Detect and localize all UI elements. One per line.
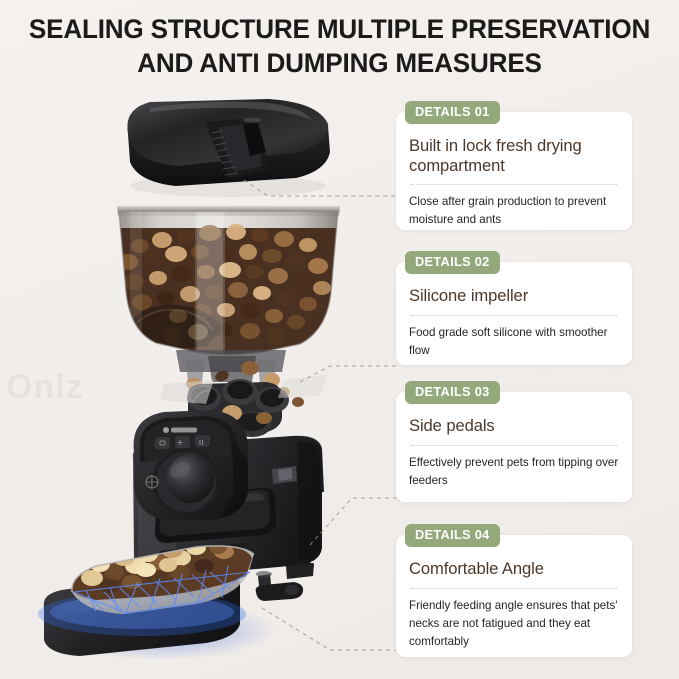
- card-content-02: Silicone impeller Food grade soft silico…: [396, 262, 632, 373]
- card-divider-04: [411, 588, 617, 589]
- card-heading-01: Built in lock fresh drying compartment: [409, 136, 619, 175]
- product-illustration: [0, 0, 400, 679]
- card-content-03: Side pedals Effectively prevent pets fro…: [396, 392, 632, 503]
- card-body-02: Food grade soft silicone with smoother f…: [409, 324, 619, 360]
- feeder-lid: [127, 99, 330, 197]
- card-divider-02: [411, 315, 617, 316]
- infographic-page: SEALING STRUCTURE MULTIPLE PRESERVATION …: [0, 0, 679, 679]
- card-body-04: Friendly feeding angle ensures that pets…: [409, 597, 619, 651]
- card-divider-03: [411, 445, 617, 446]
- card-body-01: Close after grain production to prevent …: [409, 193, 619, 229]
- card-heading-04: Comfortable Angle: [409, 559, 619, 579]
- card-body-03: Effectively prevent pets from tipping ov…: [409, 454, 619, 490]
- brand-logo: [163, 427, 197, 433]
- knob-marker-icon: [146, 476, 158, 488]
- details-card-03[interactable]: DETAILS 03 Side pedals Effectively preve…: [396, 392, 632, 502]
- feeder-hopper: [110, 206, 350, 384]
- details-card-01[interactable]: DETAILS 01 Built in lock fresh drying co…: [396, 112, 632, 230]
- card-content-04: Comfortable Angle Friendly feeding angle…: [396, 535, 632, 663]
- panel-buttons[interactable]: [155, 435, 210, 449]
- feeder-head: [134, 410, 248, 520]
- details-card-04[interactable]: DETAILS 04 Comfortable Angle Friendly fe…: [396, 535, 632, 657]
- badge-details-01: DETAILS 01: [405, 101, 500, 124]
- details-card-02[interactable]: DETAILS 02 Silicone impeller Food grade …: [396, 262, 632, 365]
- badge-details-02: DETAILS 02: [405, 251, 500, 274]
- badge-details-03: DETAILS 03: [405, 381, 500, 404]
- badge-details-04: DETAILS 04: [405, 524, 500, 547]
- card-divider-01: [411, 184, 617, 185]
- card-content-01: Built in lock fresh drying compartment C…: [396, 112, 632, 242]
- card-heading-02: Silicone impeller: [409, 286, 619, 306]
- card-heading-03: Side pedals: [409, 416, 619, 436]
